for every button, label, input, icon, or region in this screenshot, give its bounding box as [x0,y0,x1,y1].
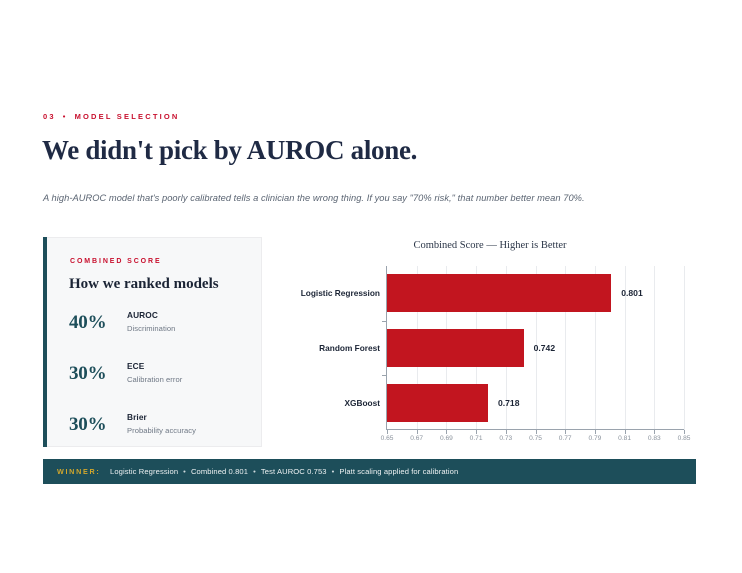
weight-metric-label: Brier [127,412,147,422]
slide-canvas: 03•MODEL SELECTION We didn't pick by AUR… [0,0,742,573]
card-title: How we ranked models [69,276,219,293]
chart-bar-value: 0.742 [534,343,556,353]
weight-percent: 30% [69,414,121,436]
footer-item: Combined 0.801 [191,467,248,476]
chart-x-tick-label: 0.81 [610,435,640,442]
chart-category-label: Random Forest [260,343,380,353]
weight-metric-desc: Discrimination [127,324,175,333]
chart-x-tick-label: 0.67 [402,435,432,442]
chart-x-tick-label: 0.79 [580,435,610,442]
chart-bar [387,329,524,367]
weight-percent: 30% [69,363,121,385]
chart-x-tick [684,430,685,434]
weight-row: 40%AUROCDiscrimination [69,310,249,344]
footer-item: Platt scaling applied for calibration [339,467,458,476]
chart-x-tick [565,430,566,434]
chart-x-tick [506,430,507,434]
page-title: We didn't pick by AUROC alone. [42,135,417,166]
chart-y-tick [382,375,386,376]
weight-metric-label: AUROC [127,310,158,320]
chart-category-label: XGBoost [260,398,380,408]
footer-separator: • [248,467,261,476]
chart-bar [387,274,611,312]
weight-list: 40%AUROCDiscrimination30%ECECalibration … [69,310,249,463]
section-label: MODEL SELECTION [75,112,180,121]
chart-x-tick-label: 0.69 [431,435,461,442]
chart-x-tick [536,430,537,434]
chart-x-tick-label: 0.77 [550,435,580,442]
chart-x-tick [476,430,477,434]
chart-x-tick-label: 0.65 [372,435,402,442]
card-eyebrow: COMBINED SCORE [70,258,162,265]
footer-separator: • [327,467,340,476]
section-number: 03 [43,112,56,121]
chart-category-label: Logistic Regression [260,288,380,298]
chart-x-tick [417,430,418,434]
chart-x-tick [595,430,596,434]
weight-percent: 40% [69,312,121,334]
chart-x-tick-label: 0.75 [521,435,551,442]
card-accent-bar [43,237,47,447]
weight-metric-desc: Calibration error [127,375,182,384]
footer-item: Test AUROC 0.753 [261,467,327,476]
weight-row: 30%ECECalibration error [69,361,249,395]
chart-x-tick [654,430,655,434]
chart-title: Combined Score — Higher is Better [280,240,700,251]
chart-x-tick [387,430,388,434]
footer-separator: • [178,467,191,476]
chart-bar-value: 0.801 [621,288,643,298]
chart-x-tick-label: 0.73 [491,435,521,442]
chart-gridline [684,266,685,430]
chart-bar [387,384,488,422]
winner-details: Logistic Regression•Combined 0.801•Test … [110,467,458,476]
weight-metric-desc: Probability accuracy [127,426,196,435]
section-eyebrow: 03•MODEL SELECTION [43,112,180,121]
winner-label: WINNER: [57,467,100,476]
eyebrow-separator: • [56,112,75,121]
weight-row: 30%BrierProbability accuracy [69,412,249,446]
chart-x-tick-label: 0.85 [669,435,699,442]
page-subtitle: A high-AUROC model that's poorly calibra… [43,193,585,203]
footer-item: Logistic Regression [110,467,178,476]
chart-x-tick-label: 0.83 [639,435,669,442]
weight-metric-label: ECE [127,361,144,371]
chart-x-tick [446,430,447,434]
chart-gridline [654,266,655,430]
chart-y-tick [382,321,386,322]
chart-x-tick-label: 0.71 [461,435,491,442]
chart-bar-value: 0.718 [498,398,520,408]
chart-x-tick [625,430,626,434]
